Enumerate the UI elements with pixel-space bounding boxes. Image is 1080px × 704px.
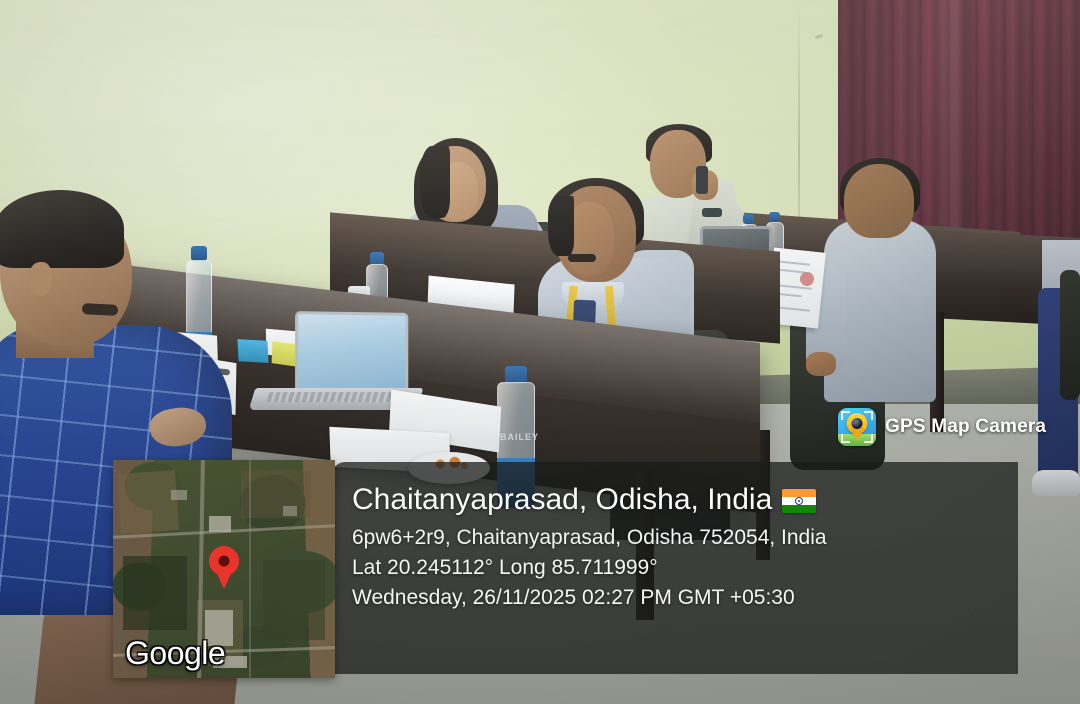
man-plaid-moustache xyxy=(82,303,119,316)
ashoka-chakra-icon xyxy=(795,497,803,505)
bottle-cap xyxy=(769,212,780,222)
young-man-moustache xyxy=(568,254,596,262)
man-plaid-hair xyxy=(0,190,124,268)
gps-address-label: 6pw6+2r9, Chaitanyaprasad, Odisha 752054… xyxy=(352,523,1000,553)
gps-map-camera-logo-icon xyxy=(838,408,876,446)
gps-map-camera-watermark: GPS Map Camera xyxy=(838,408,1046,446)
bottle-cap xyxy=(743,214,754,224)
young-man-hair-side xyxy=(548,196,574,256)
map-pin-dot xyxy=(219,556,230,567)
india-flag-icon xyxy=(782,489,816,513)
logo-lens-icon xyxy=(852,418,863,429)
chair xyxy=(1060,270,1080,400)
wristwatch xyxy=(702,208,722,217)
laptop-keyboard xyxy=(266,392,399,402)
gps-place-line: Chaitanyaprasad, Odisha, India xyxy=(352,484,1000,516)
gps-place-label: Chaitanyaprasad, Odisha, India xyxy=(352,484,772,516)
gps-info-panel: Chaitanyaprasad, Odisha, India 6pw6+2r9,… xyxy=(332,462,1018,674)
map-pin-icon xyxy=(209,546,239,576)
logo-bracket-top-left xyxy=(841,411,850,420)
gps-brand-label: GPS Map Camera xyxy=(885,416,1046,438)
logo-bracket-top-right xyxy=(864,411,873,420)
blue-sticky-note xyxy=(237,339,268,363)
seated-man-back-head xyxy=(844,164,914,238)
standing-person-shoe xyxy=(1032,470,1080,496)
man-plaid-ear xyxy=(28,262,52,296)
gps-datetime-label: Wednesday, 26/11/2025 02:27 PM GMT +05:3… xyxy=(352,583,1000,613)
photo-screenshot: BAILEY GPS Map Camera xyxy=(0,0,1080,704)
flag-green-stripe xyxy=(782,505,816,513)
map-thumbnail[interactable]: Google xyxy=(113,460,335,678)
woman-hair-front xyxy=(420,146,450,218)
logo-bracket-bottom-left xyxy=(841,434,850,443)
logo-bracket-bottom-right xyxy=(864,434,873,443)
flag-saffron-stripe xyxy=(782,489,816,497)
bottle-cap xyxy=(191,246,207,261)
laptop-screen-front xyxy=(295,311,408,391)
mobile-phone xyxy=(696,166,708,194)
bottle-brand-text: BAILEY xyxy=(500,432,534,442)
gps-coordinates-label: Lat 20.245112° Long 85.711999° xyxy=(352,553,1000,583)
google-attribution: Google xyxy=(125,635,225,672)
seated-man-back-hand xyxy=(806,352,836,376)
